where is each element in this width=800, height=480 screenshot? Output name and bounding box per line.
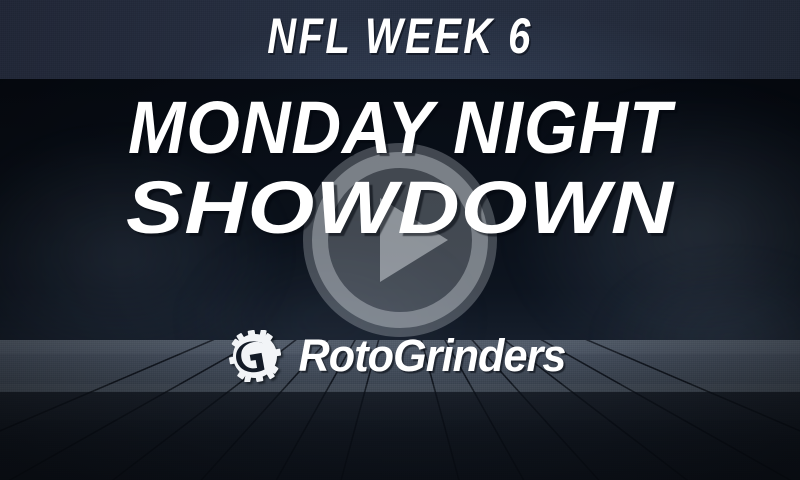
brand-name: RotoGrinders — [299, 333, 566, 379]
header-bar: NFL WEEK 6 — [0, 0, 800, 79]
week-label: NFL WEEK 6 — [80, 10, 720, 62]
rotogrinders-gear-icon — [229, 330, 281, 382]
stage-background — [0, 79, 800, 480]
play-button[interactable] — [302, 142, 498, 338]
play-button-icon[interactable] — [302, 142, 498, 338]
video-thumbnail[interactable]: NFL WEEK 6 — [0, 0, 800, 480]
brand-logo[interactable]: RotoGrinders — [0, 328, 800, 384]
